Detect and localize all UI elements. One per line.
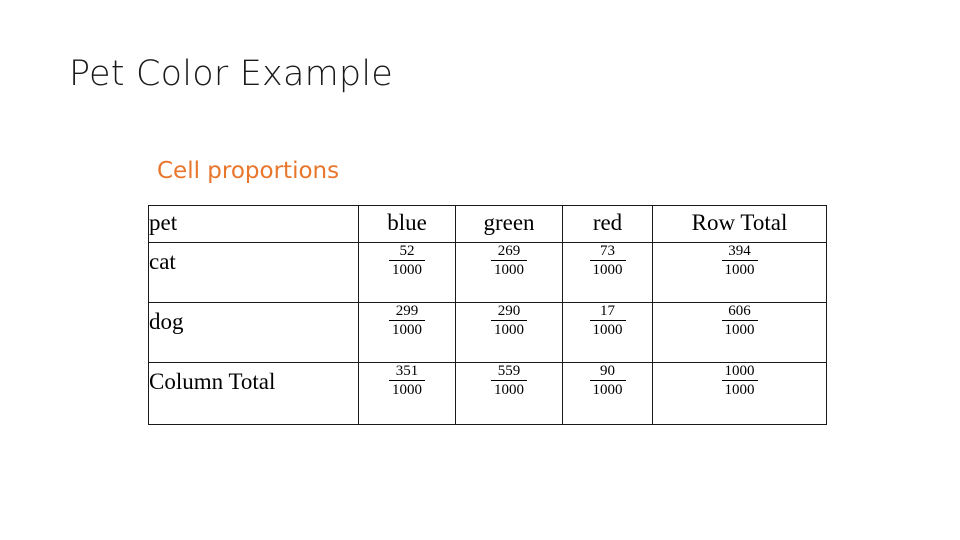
fraction-denominator: 1000 [491,261,527,278]
fraction-numerator: 1000 [722,363,758,381]
cell-grand-total: 1000 1000 [653,363,827,425]
cell-cat-red: 73 1000 [563,243,653,303]
cell-dog-red: 17 1000 [563,303,653,363]
fraction: 17 1000 [590,303,626,338]
contingency-table: pet blue green red Row Total cat 52 1000 [148,205,827,425]
fraction-denominator: 1000 [590,261,626,278]
table-header-row: pet blue green red Row Total [149,206,827,243]
fraction-numerator: 52 [389,243,425,261]
cell-column-total-green: 559 1000 [456,363,563,425]
fraction-denominator: 1000 [389,321,425,338]
fraction: 394 1000 [722,243,758,278]
cell-dog-green: 290 1000 [456,303,563,363]
row-label-dog: dog [149,303,359,363]
fraction-numerator: 17 [590,303,626,321]
fraction: 299 1000 [389,303,425,338]
table-row: cat 52 1000 269 1000 [149,243,827,303]
cell-proportions-table: pet blue green red Row Total cat 52 1000 [148,205,826,424]
fraction-numerator: 290 [491,303,527,321]
fraction-numerator: 299 [389,303,425,321]
slide-canvas: Pet Color Example Cell proportions pet b… [0,0,960,540]
fraction-numerator: 351 [389,363,425,381]
fraction: 90 1000 [590,363,626,398]
fraction-numerator: 559 [491,363,527,381]
column-header-red: red [563,206,653,243]
fraction-numerator: 90 [590,363,626,381]
fraction-denominator: 1000 [722,261,758,278]
fraction-numerator: 269 [491,243,527,261]
column-header-row-total: Row Total [653,206,827,243]
fraction-denominator: 1000 [491,381,527,398]
fraction: 73 1000 [590,243,626,278]
fraction-numerator: 606 [722,303,758,321]
fraction: 290 1000 [491,303,527,338]
row-label-column-total: Column Total [149,363,359,425]
cell-dog-row-total: 606 1000 [653,303,827,363]
fraction: 269 1000 [491,243,527,278]
page-title: Pet Color Example [69,54,393,94]
cell-column-total-blue: 351 1000 [359,363,456,425]
fraction-numerator: 73 [590,243,626,261]
cell-cat-green: 269 1000 [456,243,563,303]
fraction: 52 1000 [389,243,425,278]
cell-dog-blue: 299 1000 [359,303,456,363]
fraction: 1000 1000 [722,363,758,398]
cell-cat-row-total: 394 1000 [653,243,827,303]
fraction-denominator: 1000 [491,321,527,338]
column-header-blue: blue [359,206,456,243]
row-label-cat: cat [149,243,359,303]
fraction-denominator: 1000 [590,321,626,338]
fraction: 351 1000 [389,363,425,398]
fraction: 559 1000 [491,363,527,398]
fraction-denominator: 1000 [722,381,758,398]
section-subtitle: Cell proportions [157,158,339,186]
table-row: Column Total 351 1000 559 1000 [149,363,827,425]
column-header-pet: pet [149,206,359,243]
fraction-denominator: 1000 [389,261,425,278]
column-header-green: green [456,206,563,243]
fraction-denominator: 1000 [722,321,758,338]
table-row: dog 299 1000 290 1000 [149,303,827,363]
fraction-denominator: 1000 [590,381,626,398]
fraction: 606 1000 [722,303,758,338]
cell-cat-blue: 52 1000 [359,243,456,303]
fraction-numerator: 394 [722,243,758,261]
cell-column-total-red: 90 1000 [563,363,653,425]
fraction-denominator: 1000 [389,381,425,398]
